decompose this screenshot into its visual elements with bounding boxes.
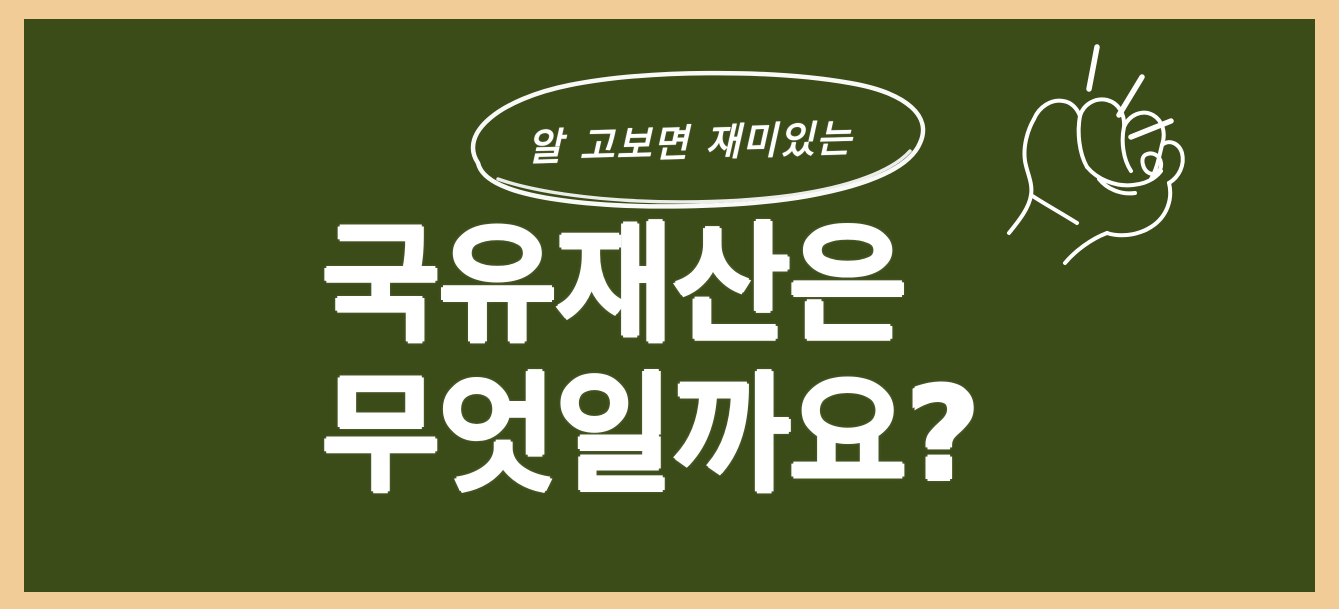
motion-lines-icon: [1089, 47, 1171, 137]
page-title-line-1: 국유재산은: [322, 211, 1082, 361]
chalkboard-panel: 알 고보면 재미있는 국유재산은 무엇일까요?: [24, 19, 1315, 592]
fist-illustration-group: [979, 37, 1189, 267]
page-title: 국유재산은 무엇일까요?: [322, 211, 1082, 511]
badge-oval-group: 알 고보면 재미있는: [440, 67, 940, 212]
badge-label: 알 고보면 재미있는: [438, 60, 942, 219]
poster-canvas: 알 고보면 재미있는 국유재산은 무엇일까요?: [0, 0, 1339, 609]
page-title-line-2: 무엇일까요?: [322, 361, 1082, 511]
